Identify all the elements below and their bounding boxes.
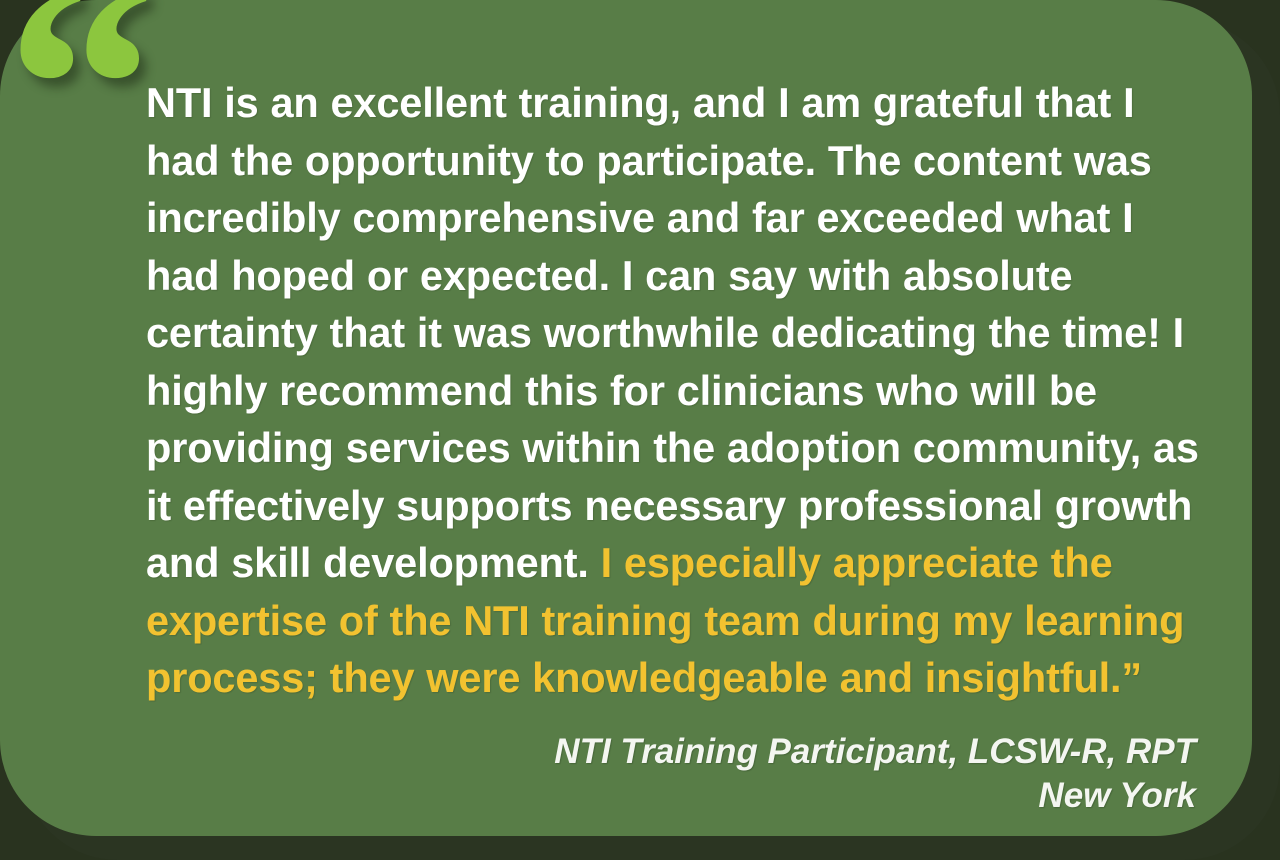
testimonial-card: “ NTI is an excellent training, and I am…	[0, 0, 1252, 836]
testimonial-card-stage: “ NTI is an excellent training, and I am…	[0, 0, 1280, 860]
attribution: NTI Training Participant, LCSW-R, RPT Ne…	[396, 730, 1196, 818]
attribution-name-credentials: NTI Training Participant, LCSW-R, RPT	[396, 730, 1196, 774]
attribution-location: New York	[396, 774, 1196, 818]
quote-text-main: NTI is an excellent training, and I am g…	[146, 79, 1199, 586]
quote-text: NTI is an excellent training, and I am g…	[146, 74, 1208, 707]
quote-body: NTI is an excellent training, and I am g…	[146, 74, 1208, 707]
